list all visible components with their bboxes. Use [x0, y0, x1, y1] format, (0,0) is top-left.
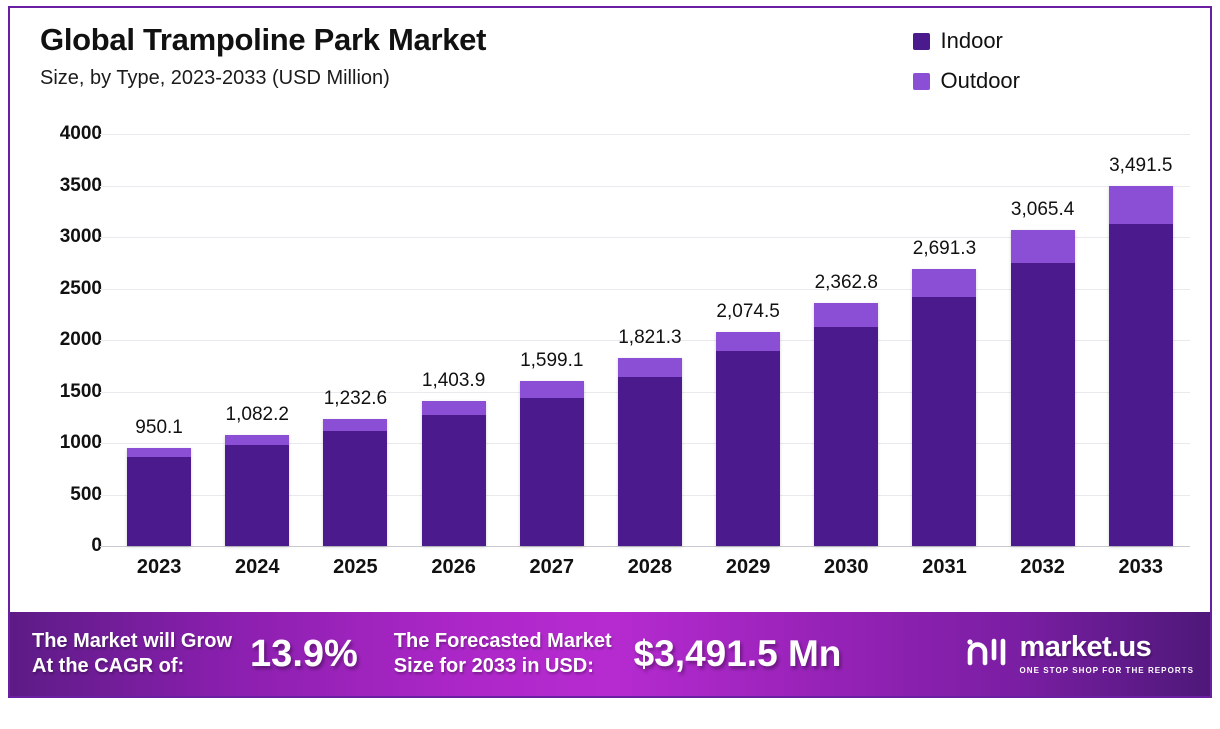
x-axis-tick-label: 2023	[127, 556, 191, 579]
bar-segment-outdoor[interactable]	[716, 332, 780, 351]
bar-segment-outdoor[interactable]	[618, 358, 682, 377]
bar-segment-indoor[interactable]	[422, 415, 486, 546]
bar-segment-outdoor[interactable]	[422, 401, 486, 415]
infographic-screenshot: Global Trampoline Park Market Size, by T…	[0, 0, 1220, 729]
x-axis-tick-label: 2026	[422, 556, 486, 579]
legend-item-indoor[interactable]: Indoor	[913, 28, 1021, 54]
y-axis: 05001000150020002500300035004000	[26, 134, 102, 546]
x-axis-tick-label: 2032	[1011, 556, 1075, 579]
forecast-size-block: The Forecasted Market Size for 2033 in U…	[394, 629, 842, 679]
y-axis-tick-label: 500	[70, 484, 102, 506]
x-axis-tick-label: 2031	[912, 556, 976, 579]
bar-group-2026[interactable]: 1,403.9	[422, 134, 486, 546]
infographic-frame: Global Trampoline Park Market Size, by T…	[8, 6, 1212, 698]
bar-segment-indoor[interactable]	[323, 431, 387, 546]
y-axis-tick-label: 3000	[60, 226, 102, 248]
y-axis-tick-label: 2000	[60, 329, 102, 351]
bar-group-2032[interactable]: 3,065.4	[1011, 134, 1075, 546]
bar-group-2024[interactable]: 1,082.2	[225, 134, 289, 546]
stacked-bar[interactable]: 1,599.1	[520, 381, 584, 546]
chart-header: Global Trampoline Park Market Size, by T…	[40, 22, 740, 90]
bar-total-label: 3,065.4	[1011, 199, 1074, 221]
x-axis-tick-label: 2024	[225, 556, 289, 579]
logo-text: market.us ONE STOP SHOP FOR THE REPORTS	[1020, 633, 1194, 675]
cagr-caption-line2: At the CAGR of:	[32, 654, 232, 679]
x-axis-tick-label: 2030	[814, 556, 878, 579]
stacked-bar[interactable]: 2,691.3	[912, 269, 976, 546]
bar-segment-indoor[interactable]	[1011, 263, 1075, 547]
stacked-bar[interactable]: 2,074.5	[716, 332, 780, 546]
bar-segment-outdoor[interactable]	[912, 269, 976, 297]
bar-group-2031[interactable]: 2,691.3	[912, 134, 976, 546]
x-axis-tick-label: 2028	[618, 556, 682, 579]
x-axis-tick-label: 2033	[1109, 556, 1173, 579]
bar-total-label: 1,403.9	[422, 370, 485, 392]
y-axis-tick-label: 1500	[60, 381, 102, 403]
bar-series-container: 950.11,082.21,232.61,403.91,599.11,821.3…	[110, 134, 1190, 546]
stacked-bar[interactable]: 2,362.8	[814, 303, 878, 546]
bar-segment-outdoor[interactable]	[127, 448, 191, 457]
forecast-size-caption-line1: The Forecasted Market	[394, 629, 612, 654]
bar-total-label: 1,821.3	[618, 327, 681, 349]
bar-total-label: 1,232.6	[324, 388, 387, 410]
square-swatch-icon	[913, 33, 930, 50]
y-axis-tick-label: 2500	[60, 278, 102, 300]
page-title: Global Trampoline Park Market	[40, 22, 740, 58]
bar-segment-indoor[interactable]	[1109, 224, 1173, 546]
axis-baseline	[100, 546, 1190, 547]
bar-segment-indoor[interactable]	[520, 398, 584, 546]
legend-label: Outdoor	[941, 68, 1021, 94]
stacked-bar[interactable]: 1,082.2	[225, 435, 289, 546]
forecast-size-value: $3,491.5 Mn	[634, 633, 842, 675]
bar-group-2027[interactable]: 1,599.1	[520, 134, 584, 546]
cagr-block: The Market will Grow At the CAGR of: 13.…	[32, 629, 358, 679]
forecast-size-caption-line2: Size for 2033 in USD:	[394, 654, 612, 679]
bar-segment-outdoor[interactable]	[225, 435, 289, 445]
cagr-caption: The Market will Grow At the CAGR of:	[32, 629, 232, 679]
legend-item-outdoor[interactable]: Outdoor	[913, 68, 1021, 94]
summary-banner: The Market will Grow At the CAGR of: 13.…	[10, 612, 1210, 696]
x-axis: 2023202420252026202720282029203020312032…	[110, 556, 1190, 579]
x-axis-tick-label: 2029	[716, 556, 780, 579]
bar-segment-outdoor[interactable]	[1109, 186, 1173, 223]
y-axis-tick-label: 3500	[60, 175, 102, 197]
square-swatch-icon	[913, 73, 930, 90]
chart-area: Global Trampoline Park Market Size, by T…	[10, 8, 1210, 613]
bar-group-2028[interactable]: 1,821.3	[618, 134, 682, 546]
stacked-bar[interactable]: 1,821.3	[618, 358, 682, 546]
stacked-bar[interactable]: 1,232.6	[323, 419, 387, 546]
bar-segment-outdoor[interactable]	[323, 419, 387, 431]
stacked-bar[interactable]: 950.1	[127, 448, 191, 546]
bar-total-label: 2,074.5	[716, 301, 779, 323]
x-axis-tick-label: 2027	[520, 556, 584, 579]
stacked-bar[interactable]: 1,403.9	[422, 401, 486, 546]
chart-subtitle: Size, by Type, 2023-2033 (USD Million)	[40, 67, 740, 90]
bar-segment-indoor[interactable]	[127, 457, 191, 546]
bar-total-label: 2,691.3	[913, 238, 976, 260]
bar-segment-indoor[interactable]	[618, 377, 682, 546]
x-axis-tick-label: 2025	[323, 556, 387, 579]
stacked-bar[interactable]: 3,065.4	[1011, 230, 1075, 546]
market-us-logo[interactable]: market.us ONE STOP SHOP FOR THE REPORTS	[964, 632, 1194, 677]
bar-total-label: 950.1	[135, 417, 183, 439]
chart-legend: IndoorOutdoor	[913, 28, 1021, 94]
bar-group-2025[interactable]: 1,232.6	[323, 134, 387, 546]
bar-total-label: 1,599.1	[520, 350, 583, 372]
cagr-caption-line1: The Market will Grow	[32, 629, 232, 654]
market-us-logomark-icon	[964, 632, 1010, 677]
y-axis-tick-label: 1000	[60, 432, 102, 454]
bar-total-label: 1,082.2	[226, 404, 289, 426]
bar-group-2023[interactable]: 950.1	[127, 134, 191, 546]
stacked-bar[interactable]: 3,491.5	[1109, 186, 1173, 546]
bar-total-label: 3,491.5	[1109, 155, 1172, 177]
plot-area: 05001000150020002500300035004000 950.11,…	[110, 134, 1190, 546]
cagr-value: 13.9%	[250, 633, 358, 676]
logo-wordmark: market.us	[1020, 633, 1194, 662]
bar-total-label: 2,362.8	[815, 272, 878, 294]
y-axis-tick-label: 4000	[60, 123, 102, 145]
forecast-size-caption: The Forecasted Market Size for 2033 in U…	[394, 629, 612, 679]
bar-group-2033[interactable]: 3,491.5	[1109, 134, 1173, 546]
bar-group-2029[interactable]: 2,074.5	[716, 134, 780, 546]
bar-group-2030[interactable]: 2,362.8	[814, 134, 878, 546]
bar-segment-indoor[interactable]	[814, 327, 878, 546]
bar-segment-outdoor[interactable]	[1011, 230, 1075, 262]
bar-segment-indoor[interactable]	[716, 351, 780, 546]
bar-segment-outdoor[interactable]	[520, 381, 584, 397]
legend-label: Indoor	[941, 28, 1003, 54]
bar-segment-outdoor[interactable]	[814, 303, 878, 328]
bar-segment-indoor[interactable]	[225, 445, 289, 546]
logo-tagline: ONE STOP SHOP FOR THE REPORTS	[1020, 666, 1194, 675]
bar-segment-indoor[interactable]	[912, 297, 976, 546]
